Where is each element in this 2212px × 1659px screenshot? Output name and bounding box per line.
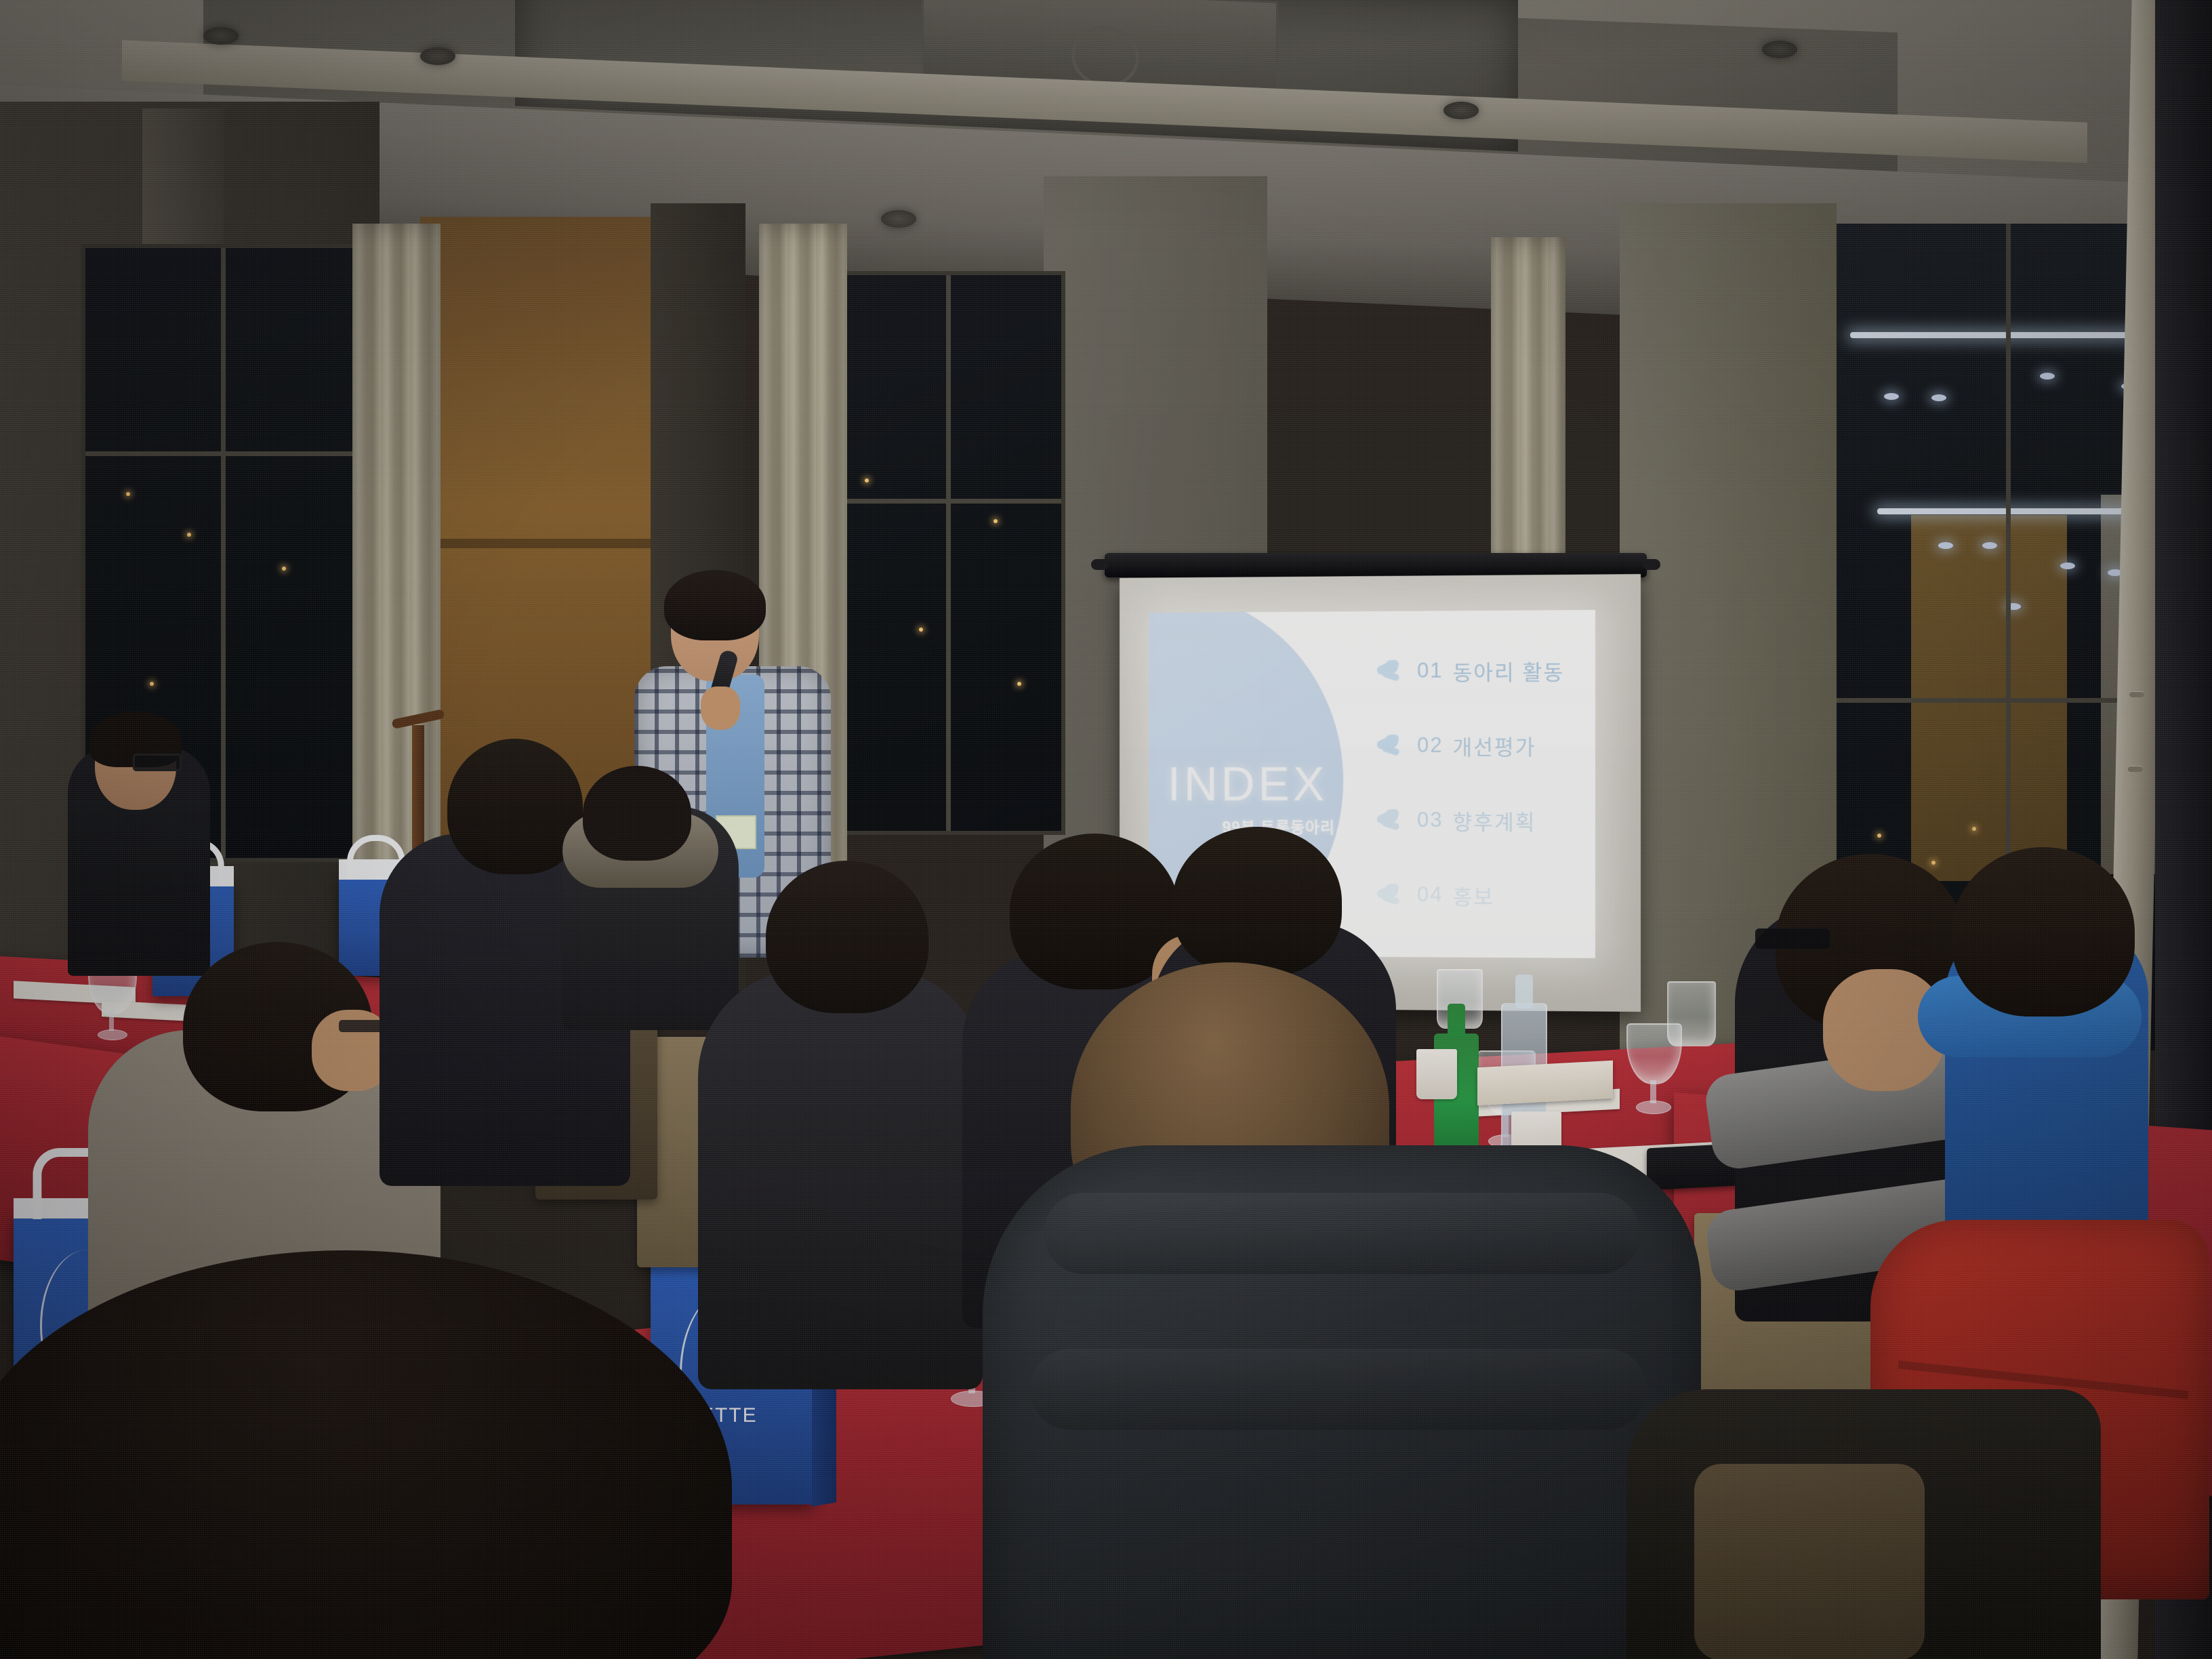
slide-list-item: 04 홍보 bbox=[1374, 863, 1592, 926]
audience-fur-collar-hair bbox=[583, 766, 691, 861]
slide-list-item: 03 향후계획 bbox=[1374, 789, 1592, 852]
slide-title: INDEX bbox=[1168, 760, 1369, 808]
glasses-icon bbox=[133, 754, 182, 771]
slide-item-label: 향후계획 bbox=[1453, 805, 1536, 836]
window-middle bbox=[834, 271, 1065, 835]
audience-blue-jacket-hair bbox=[1952, 847, 2135, 1017]
jacket-quilt-seam bbox=[1030, 1349, 1647, 1430]
slide-item-label: 개선평가 bbox=[1453, 730, 1536, 760]
audience-centre-hair bbox=[766, 861, 928, 1013]
slide-item-label: 동아리 활동 bbox=[1453, 655, 1564, 686]
slide-index-list: 01 동아리 활동 02 개선평가 03 향후계획 04 홍보 bbox=[1374, 638, 1592, 939]
glasses-icon bbox=[1755, 928, 1830, 949]
telescope-icon bbox=[1374, 657, 1409, 684]
jacket-quilt-seam bbox=[1044, 1193, 1640, 1274]
telescope-icon bbox=[1374, 732, 1409, 759]
slide-item-number: 03 bbox=[1417, 808, 1443, 832]
audience-centre-body bbox=[698, 969, 983, 1389]
slide-list-item: 01 동아리 활동 bbox=[1374, 638, 1592, 702]
photo-scene: INDEX 99분 토론동아리 01 동아리 활동 02 개선평가 03 향후계… bbox=[0, 0, 2212, 1659]
presenter-hand bbox=[701, 687, 740, 730]
paper-cup bbox=[1416, 1049, 1457, 1099]
slide-item-number: 04 bbox=[1417, 882, 1443, 907]
downlight-icon bbox=[1443, 102, 1479, 119]
bag-brown bbox=[1694, 1464, 1925, 1659]
water-glass bbox=[1667, 981, 1715, 1063]
downlight-icon bbox=[1762, 41, 1797, 58]
telescope-icon bbox=[1374, 806, 1409, 834]
table-card bbox=[1477, 1061, 1613, 1105]
glasses-icon bbox=[339, 1020, 382, 1032]
downlight-icon bbox=[203, 27, 239, 45]
slide-item-number: 01 bbox=[1417, 659, 1443, 683]
downlight-icon bbox=[881, 210, 916, 228]
slide-item-number: 02 bbox=[1417, 733, 1443, 758]
projection-screen-roller bbox=[1105, 553, 1647, 577]
slide-item-label: 홍보 bbox=[1453, 880, 1494, 910]
audience-centre3-hair bbox=[1172, 827, 1342, 976]
foreground-head bbox=[0, 1250, 732, 1659]
slide-list-item: 02 개선평가 bbox=[1374, 714, 1592, 777]
telescope-icon bbox=[1374, 881, 1409, 908]
downlight-icon bbox=[420, 47, 455, 65]
presenter-hair bbox=[664, 570, 766, 640]
